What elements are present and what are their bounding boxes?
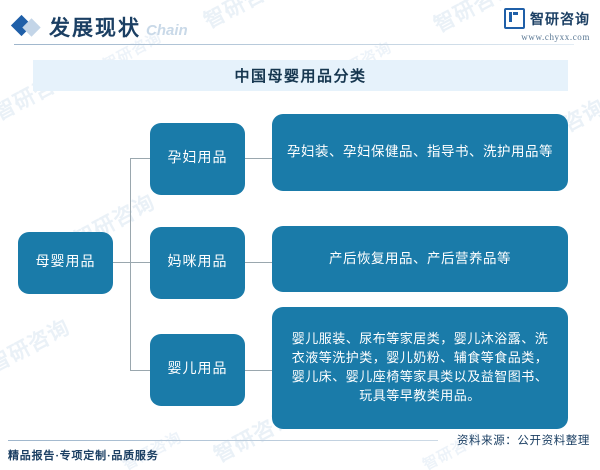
connector-mid-stub-3 xyxy=(245,370,272,371)
node-description-2[interactable]: 产后恢复用品、产后营养品等 xyxy=(272,226,568,292)
classification-diagram: 母婴用品 孕妇用品 妈咪用品 婴儿用品 孕妇装、孕妇保健品、指导书、洗护用品等 … xyxy=(0,0,600,470)
footer-tagline: 精品报告·专项定制·品质服务 xyxy=(8,447,159,463)
connector-spine xyxy=(130,158,131,370)
node-description-1[interactable]: 孕妇装、孕妇保健品、指导书、洗护用品等 xyxy=(272,114,568,191)
connector-root-stub xyxy=(113,262,130,263)
brand-logo-icon xyxy=(504,8,525,29)
footer-source: 资料来源：公开资料整理 xyxy=(457,432,590,448)
node-category-3[interactable]: 婴儿用品 xyxy=(150,334,245,406)
node-root[interactable]: 母婴用品 xyxy=(18,232,113,294)
brand-row: 智研咨询 xyxy=(504,8,590,29)
connector-mid-stub-2 xyxy=(245,262,272,263)
connector-arm-2 xyxy=(130,262,150,263)
node-category-2[interactable]: 妈咪用品 xyxy=(150,227,245,299)
page-header: 发展现状 Chain 智研咨询 www.chyxx.com xyxy=(0,0,600,52)
connector-arm-3 xyxy=(130,370,150,371)
page-title-en: Chain xyxy=(146,22,188,39)
brand-block: 智研咨询 www.chyxx.com xyxy=(504,8,590,42)
node-category-1[interactable]: 孕妇用品 xyxy=(150,123,245,195)
node-description-3[interactable]: 婴儿服装、尿布等家居类，婴儿沐浴露、洗衣液等洗护类，婴儿奶粉、辅食等食品类，婴儿… xyxy=(272,307,568,429)
connector-mid-stub-1 xyxy=(245,158,272,159)
page-title: 发展现状 xyxy=(49,12,141,42)
header-title-group: 发展现状 Chain xyxy=(14,12,188,42)
header-divider xyxy=(14,44,574,45)
connector-arm-1 xyxy=(130,158,150,159)
brand-name: 智研咨询 xyxy=(530,9,590,29)
brand-url: www.chyxx.com xyxy=(504,32,590,42)
footer-divider xyxy=(8,440,438,441)
